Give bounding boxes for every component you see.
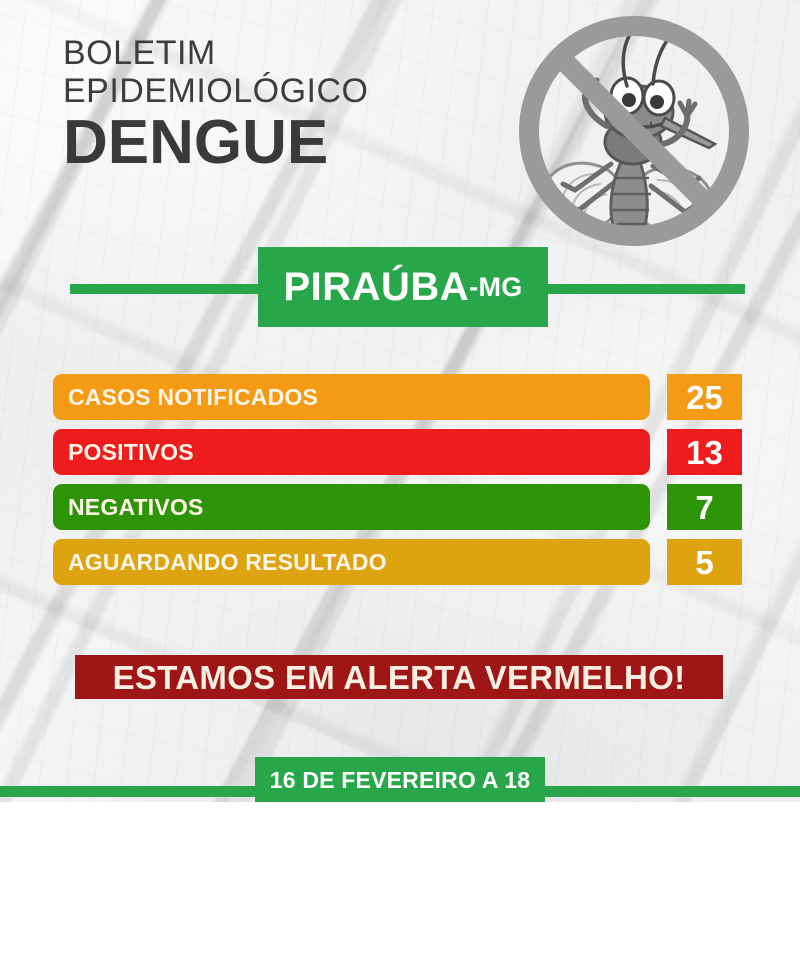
title-line-dengue: DENGUE <box>63 112 483 174</box>
title-line-boletim: BOLETIM <box>63 34 483 72</box>
city-name-label: PIRAÚBA <box>283 267 469 307</box>
city-name-box: PIRAÚBA -MG <box>258 247 548 327</box>
table-row: AGUARDANDO RESULTADO 5 <box>0 539 800 585</box>
bar-negativos: NEGATIVOS <box>53 484 650 530</box>
title-line-epidemiologico: EPIDEMIOLÓGICO <box>63 72 483 110</box>
table-row: NEGATIVOS 7 <box>0 484 800 530</box>
stat-value-aguardando-resultado: 5 <box>667 539 742 585</box>
stat-value-casos-notificados: 25 <box>667 374 742 420</box>
city-uf-label: -MG <box>469 267 522 307</box>
stat-label: NEGATIVOS <box>68 496 204 519</box>
stat-value-positivos: 13 <box>667 429 742 475</box>
footer: SECRETARIA MUNICIPAL DE SAÚDE PIRAÚBA-MG <box>0 802 800 960</box>
status-badge: ESTAMOS EM ALERTA VERMELHO! <box>75 655 723 699</box>
city-rule-right <box>545 284 745 294</box>
no-mosquito-icon <box>503 14 765 256</box>
stat-label: AGUARDANDO RESULTADO <box>68 551 387 574</box>
date-line-1: 16 DE FEVEREIRO A 18 <box>270 765 531 795</box>
page-title: BOLETIM EPIDEMIOLÓGICO DENGUE <box>63 34 483 174</box>
city-rule-left <box>70 284 270 294</box>
stat-value-negativos: 7 <box>667 484 742 530</box>
stat-label: CASOS NOTIFICADOS <box>68 386 318 409</box>
table-row: CASOS NOTIFICADOS 25 <box>0 374 800 420</box>
bar-casos-notificados: CASOS NOTIFICADOS <box>53 374 650 420</box>
stat-label: POSITIVOS <box>68 441 194 464</box>
bar-positivos: POSITIVOS <box>53 429 650 475</box>
bar-aguardando-resultado: AGUARDANDO RESULTADO <box>53 539 650 585</box>
table-row: POSITIVOS 13 <box>0 429 800 475</box>
dengue-bulletin-poster: BOLETIM EPIDEMIOLÓGICO DENGUE <box>0 0 800 960</box>
statistics-list: CASOS NOTIFICADOS 25 POSITIVOS 13 NEGATI… <box>0 374 800 594</box>
alert-text: ESTAMOS EM ALERTA VERMELHO! <box>113 661 686 694</box>
